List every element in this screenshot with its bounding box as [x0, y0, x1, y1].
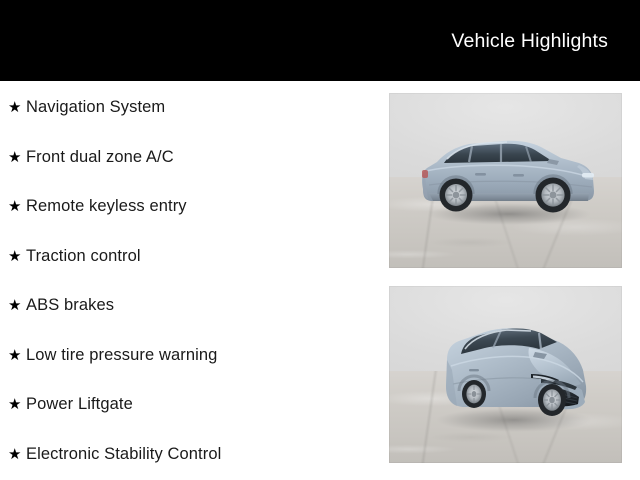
list-item: ★ Navigation System — [8, 95, 165, 119]
star-bullet-icon: ★ — [8, 344, 26, 368]
vehicle-photo-front-three-quarter — [389, 286, 622, 463]
star-bullet-icon: ★ — [8, 294, 26, 318]
suv-side-profile-illustration — [389, 93, 622, 268]
page-title: Vehicle Highlights — [451, 28, 608, 54]
feature-label: Power Liftgate — [26, 392, 133, 416]
star-bullet-icon: ★ — [8, 195, 26, 219]
list-item: ★ Front dual zone A/C — [8, 145, 174, 169]
feature-label: Remote keyless entry — [26, 194, 187, 218]
list-item: ★ Remote keyless entry — [8, 194, 187, 218]
list-item: ★ Electronic Stability Control — [8, 442, 221, 466]
list-item: ★ ABS brakes — [8, 293, 114, 317]
feature-label: Navigation System — [26, 95, 165, 119]
photo-canvas — [389, 93, 622, 268]
header-bar: Vehicle Highlights — [0, 0, 640, 81]
vehicle-features-list: ★ Navigation System ★ Front dual zone A/… — [0, 81, 380, 480]
list-item: ★ Low tire pressure warning — [8, 343, 217, 367]
vehicle-photo-side-profile — [389, 93, 622, 268]
star-bullet-icon: ★ — [8, 245, 26, 269]
vehicle-highlights-slide: Vehicle Highlights ★ Navigation System ★… — [0, 0, 640, 480]
photo-canvas — [389, 286, 622, 463]
feature-label: ABS brakes — [26, 293, 114, 317]
suv-front-quarter-illustration — [389, 286, 622, 463]
feature-label: Electronic Stability Control — [26, 442, 221, 466]
list-item: ★ Traction control — [8, 244, 141, 268]
feature-label: Front dual zone A/C — [26, 145, 174, 169]
star-bullet-icon: ★ — [8, 393, 26, 417]
star-bullet-icon: ★ — [8, 146, 26, 170]
feature-label: Low tire pressure warning — [26, 343, 217, 367]
list-item: ★ Power Liftgate — [8, 392, 133, 416]
star-bullet-icon: ★ — [8, 96, 26, 120]
star-bullet-icon: ★ — [8, 443, 26, 467]
feature-label: Traction control — [26, 244, 141, 268]
